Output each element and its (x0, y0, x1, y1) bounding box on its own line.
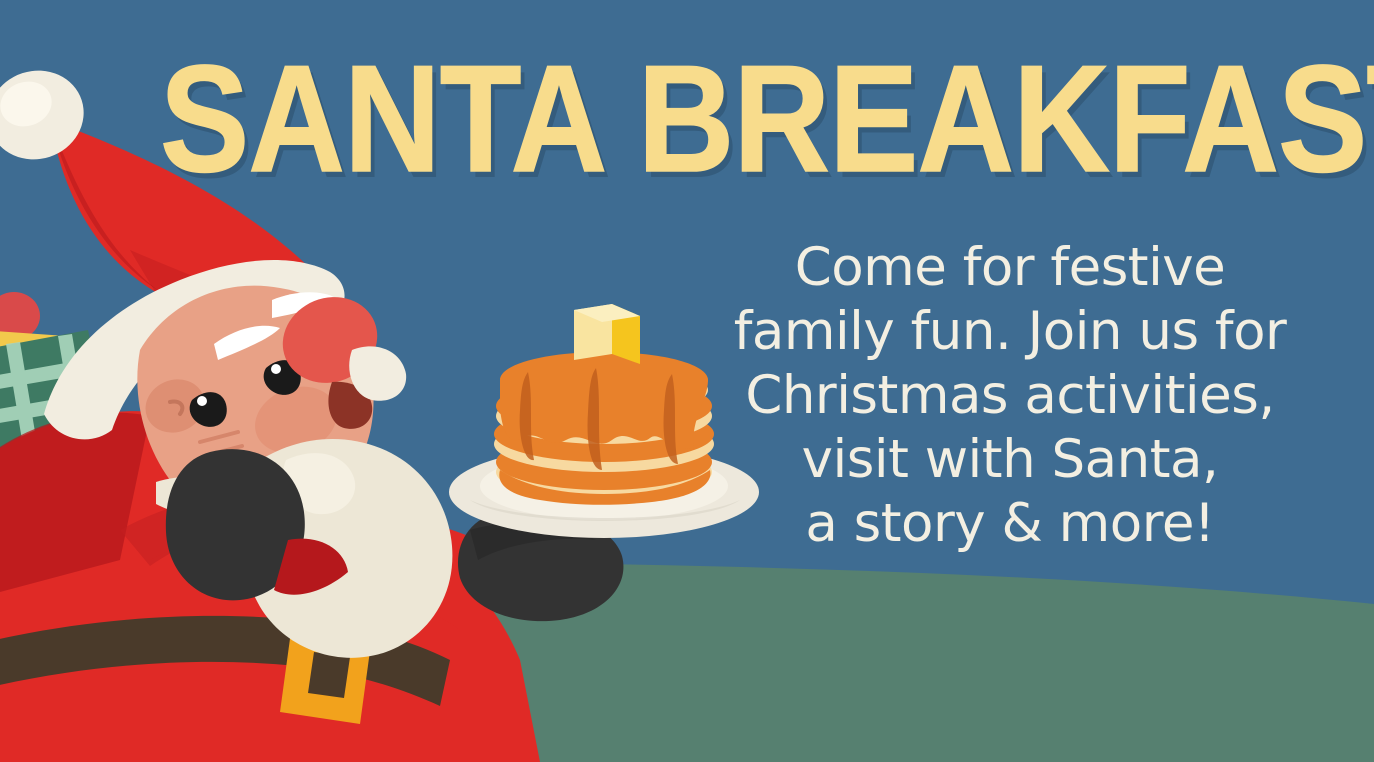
santa-eye-right-highlight (197, 396, 207, 406)
santa-breakfast-poster: SANTA BREAKFAST Come for festive family … (0, 0, 1374, 762)
promo-line-2: family fun. Join us for (700, 300, 1320, 364)
promo-line-5: a story & more! (700, 492, 1320, 556)
promo-line-4: visit with Santa, (700, 428, 1320, 492)
promo-line-1: Come for festive (700, 236, 1320, 300)
promo-description: Come for festive family fun. Join us for… (700, 236, 1320, 556)
page-title: SANTA BREAKFAST (160, 44, 1102, 194)
santa-eye-left-highlight (271, 364, 281, 374)
promo-line-3: Christmas activities, (700, 364, 1320, 428)
